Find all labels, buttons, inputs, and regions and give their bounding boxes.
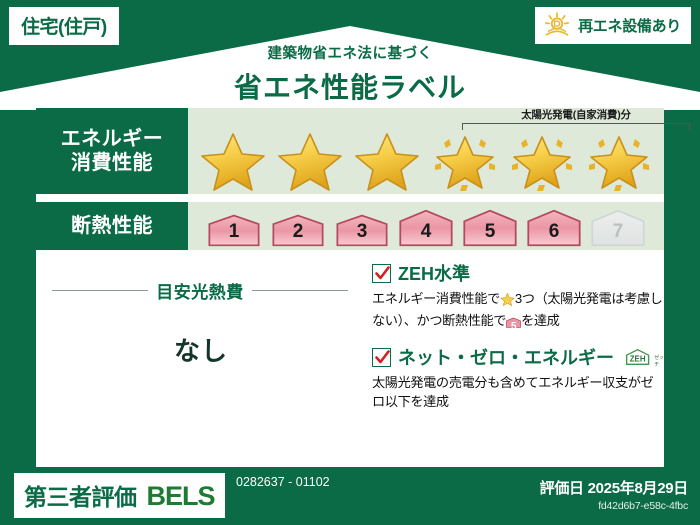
insulation-grade-2: 2 — [267, 213, 329, 247]
star-sparkle-icon — [585, 129, 653, 191]
label-content: エネルギー 消費性能 太陽光発電(自家消費)分 — [36, 104, 664, 467]
inline-house-icon: 5 — [506, 315, 521, 334]
divider-right — [252, 290, 348, 291]
grade-number: 5 — [459, 221, 521, 243]
label-title-block: 建築物省エネ法に基づく 省エネ性能ラベル — [0, 42, 700, 106]
criterion-description: エネルギー消費性能で3つ（太陽光発電は考慮しない）、かつ断熱性能で5を達成 — [372, 289, 664, 334]
renewable-energy-badge: 再エネ設備あり — [534, 6, 692, 45]
bels-en-label: BELS — [147, 481, 215, 512]
insulation-grade-7: 7 — [587, 208, 649, 247]
star-icon — [276, 129, 344, 191]
zeh-logo: ZEH ゼッチ — [623, 346, 666, 368]
divider-left — [52, 290, 148, 291]
insulation-grade-4: 4 — [395, 208, 457, 247]
check-icon — [374, 265, 391, 282]
evaluation-hash: fd42d6b7-e58c-4fbc — [540, 500, 688, 512]
insulation-grade-1: 1 — [203, 213, 265, 247]
energy-row-body: 太陽光発電(自家消費)分 — [188, 108, 664, 194]
energy-label-line2: 消費性能 — [71, 151, 153, 175]
star-icon — [199, 129, 267, 191]
criterion-title: ネット・ゼロ・エネルギー — [398, 344, 614, 370]
criteria-section: ZEH水準 エネルギー消費性能で3つ（太陽光発電は考慮しない）、かつ断熱性能で5… — [372, 260, 664, 422]
star-sparkle-icon — [508, 129, 576, 191]
bels-certification-box: 第三者評価 BELS — [14, 473, 225, 518]
star-4-solar — [431, 129, 499, 191]
star-5-solar — [508, 129, 576, 191]
evaluation-date: 評価日 2025年8月29日 — [540, 477, 688, 498]
star-2 — [276, 129, 344, 191]
energy-performance-label: 住宅(住戸) 再エネ設備あり 建築物省エネ法に基づく 省エネ性能ラベル エネ — [0, 0, 700, 525]
criterion-header: ネット・ゼロ・エネルギー ZEH ゼッチ — [372, 344, 664, 370]
energy-stars — [188, 128, 664, 192]
utility-cost-value: なし — [36, 331, 356, 368]
inline-house-number: 5 — [506, 320, 521, 335]
criterion-description: 太陽光発電の売電分も含めてエネルギー収支がゼロ以下を達成 — [372, 373, 664, 411]
title-main: 省エネ性能ラベル — [0, 66, 700, 106]
star-sparkle-icon — [431, 129, 499, 191]
insulation-grade-6: 6 — [523, 208, 585, 247]
insulation-row-label: 断熱性能 — [36, 202, 188, 250]
building-type-tag: 住宅(住戸) — [8, 6, 120, 46]
footer-right-info: 評価日 2025年8月29日 fd42d6b7-e58c-4fbc — [540, 477, 688, 512]
energy-performance-row: エネルギー 消費性能 太陽光発電(自家消費)分 — [36, 108, 664, 194]
grade-number: 2 — [267, 221, 329, 243]
solar-bracket-label: 太陽光発電(自家消費)分 — [460, 107, 692, 122]
criterion-net-zero-energy: ネット・ゼロ・エネルギー ZEH ゼッチ 太陽光発電の売電分も含めてエネルギー収… — [372, 344, 664, 411]
insulation-grade-3: 3 — [331, 213, 393, 247]
solar-generation-bracket: 太陽光発電(自家消費)分 — [460, 108, 692, 130]
lower-section: 目安光熱費 なし ZEH水準 — [36, 258, 664, 458]
renewable-badge-label: 再エネ設備あり — [578, 15, 681, 36]
checkbox-zeh-standard[interactable] — [372, 264, 391, 283]
bels-certificate-number: 0282637 - 01102 — [236, 475, 356, 491]
inline-star-icon — [500, 292, 515, 311]
insulation-grade-scale: 1 2 3 — [188, 202, 664, 250]
grade-number: 3 — [331, 221, 393, 243]
zeh-logo-subtext: ゼッチ — [654, 354, 665, 368]
insulation-row-body: 1 2 3 — [188, 202, 664, 250]
energy-row-label: エネルギー 消費性能 — [36, 108, 188, 194]
desc-part-1: エネルギー消費性能で — [372, 291, 500, 306]
svg-text:ZEH: ZEH — [630, 355, 646, 364]
insulation-performance-row: 断熱性能 — [36, 202, 664, 250]
bels-jp-label: 第三者評価 — [24, 478, 137, 512]
criterion-title: ZEH水準 — [398, 260, 470, 286]
checkbox-net-zero-energy[interactable] — [372, 348, 391, 367]
star-6-solar — [585, 129, 653, 191]
sun-icon — [543, 11, 571, 39]
utility-cost-section: 目安光熱費 なし — [36, 258, 356, 458]
grade-number: 6 — [523, 221, 585, 243]
utility-cost-title: 目安光熱費 — [156, 278, 244, 303]
utility-cost-header: 目安光熱費 — [36, 278, 356, 303]
star-1 — [199, 129, 267, 191]
grade-number: 4 — [395, 221, 457, 243]
label-footer: 第三者評価 BELS 0282637 - 01102 評価日 2025年8月29… — [0, 467, 700, 525]
insulation-label-text: 断熱性能 — [71, 214, 153, 238]
desc-part-3: を達成 — [521, 313, 559, 328]
star-3 — [353, 129, 421, 191]
insulation-grade-5: 5 — [459, 208, 521, 247]
grade-number: 7 — [587, 221, 649, 243]
zeh-house-icon: ZEH — [623, 346, 652, 368]
criterion-zeh-standard: ZEH水準 エネルギー消費性能で3つ（太陽光発電は考慮しない）、かつ断熱性能で5… — [372, 260, 664, 334]
criterion-header: ZEH水準 — [372, 260, 664, 286]
energy-label-line1: エネルギー — [61, 127, 164, 151]
grade-number: 1 — [203, 221, 265, 243]
check-icon — [374, 349, 391, 366]
star-icon — [353, 129, 421, 191]
